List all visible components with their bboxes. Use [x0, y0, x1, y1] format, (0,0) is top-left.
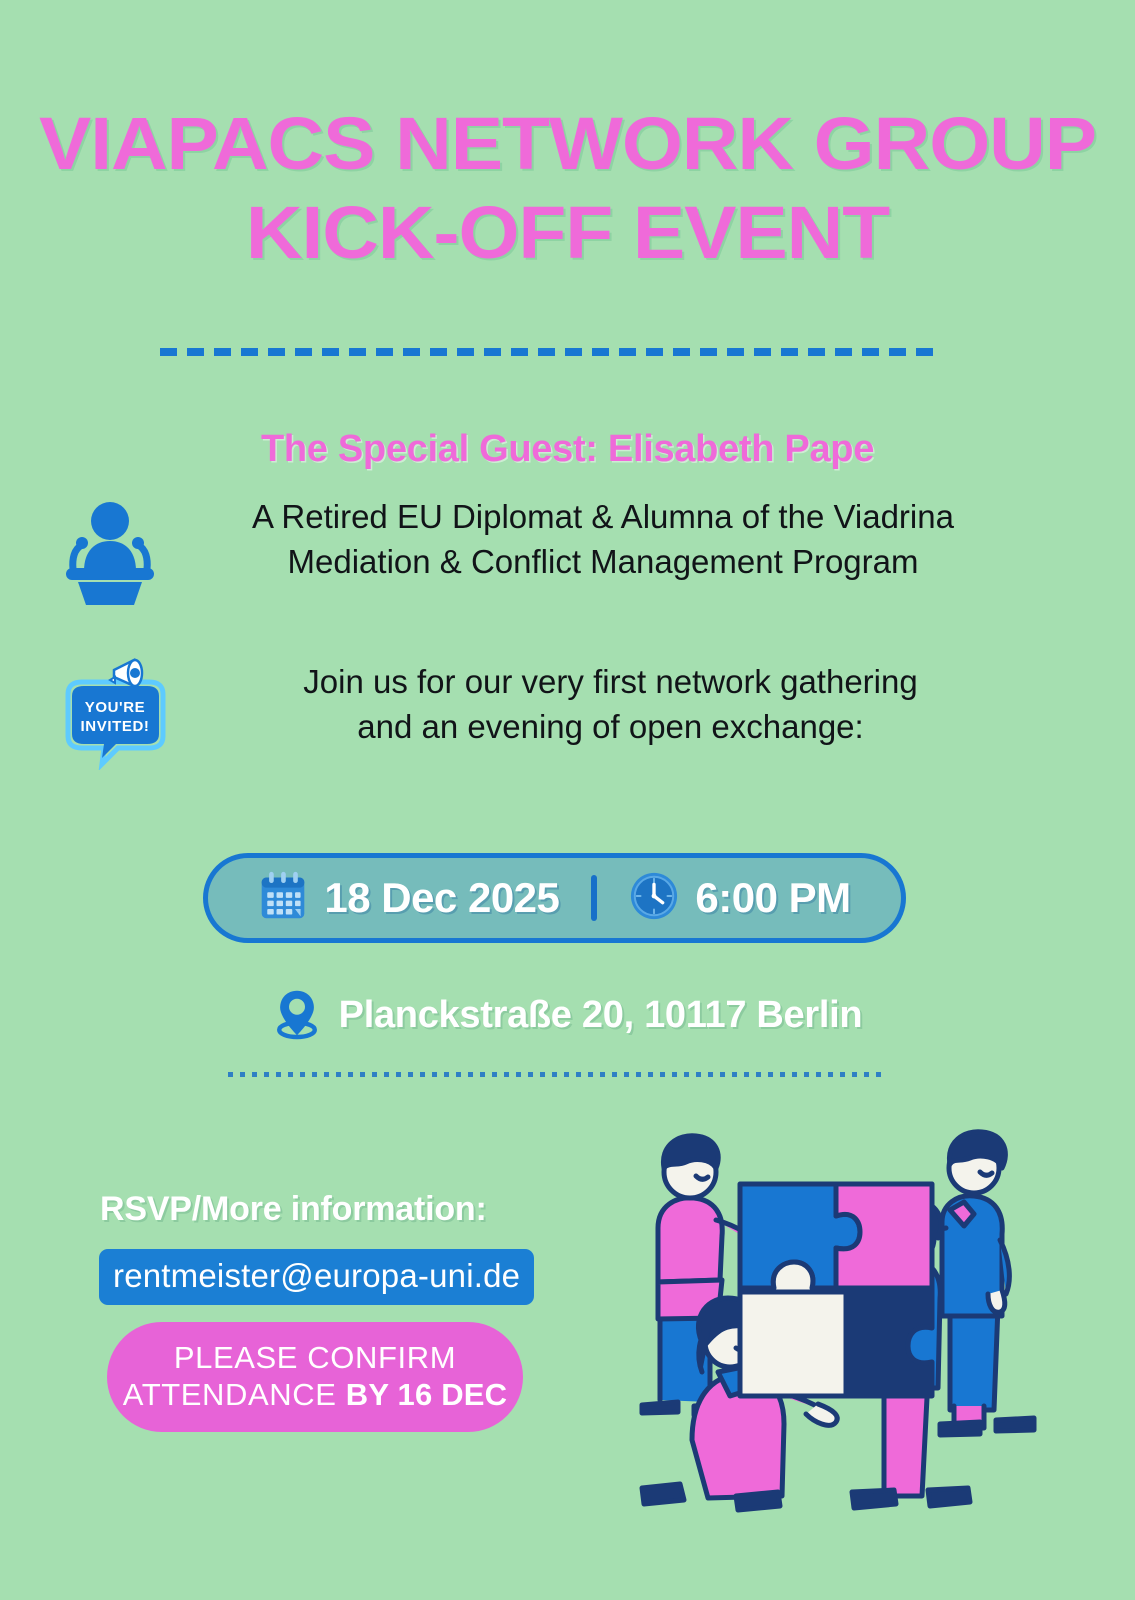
invite-description: Join us for our very first network gathe… [173, 650, 1068, 750]
datetime-separator [591, 875, 597, 921]
rsvp-email[interactable]: rentmeister@europa-uni.de [99, 1249, 534, 1305]
puzzle-pieces [740, 1184, 932, 1396]
calendar-icon [258, 870, 308, 927]
title-line-2: KICK-OFF EVENT [0, 197, 1135, 270]
cta-deadline: BY 16 DEC [346, 1377, 507, 1412]
event-date: 18 Dec 2025 [324, 874, 559, 922]
podium-speaker-icon [60, 497, 160, 607]
title-line-1: VIAPACS NETWORK GROUP [0, 108, 1135, 181]
location-row: Planckstraße 20, 10117 Berlin [0, 985, 1135, 1046]
teamwork-puzzle-illustration [598, 1110, 1046, 1520]
speaker-description: A Retired EU Diplomat & Alumna of the Vi… [160, 495, 1070, 585]
map-pin-icon [273, 985, 321, 1046]
invite-row: YOU'RE INVITED! Join us for our very fir… [58, 650, 1068, 770]
datetime-pill: 18 Dec 2025 6:00 P [203, 853, 906, 943]
page-title: VIAPACS NETWORK GROUP KICK-OFF EVENT [0, 108, 1135, 269]
megaphone-icon [110, 660, 142, 686]
speaker-description-line-1: A Retired EU Diplomat & Alumna of the Vi… [160, 495, 1046, 540]
event-poster: VIAPACS NETWORK GROUP KICK-OFF EVENT The… [0, 0, 1135, 1600]
event-time: 6:00 PM [695, 874, 850, 922]
speaker-description-line-2: Mediation & Conflict Management Program [160, 540, 1046, 585]
cta-line-2-light: ATTENDANCE [123, 1377, 346, 1412]
time-item: 6:00 PM [629, 871, 850, 926]
dashed-divider [160, 348, 940, 356]
confirm-attendance-button[interactable]: PLEASE CONFIRM ATTENDANCE BY 16 DEC [107, 1322, 523, 1432]
youre-invited-badge: YOU'RE INVITED! [58, 650, 173, 770]
cta-line-2: ATTENDANCE BY 16 DEC [123, 1377, 508, 1414]
svg-text:YOU'RE: YOU'RE [85, 699, 146, 716]
cta-line-1: PLEASE CONFIRM [174, 1340, 456, 1377]
rsvp-label: RSVP/More information: [100, 1190, 487, 1229]
special-guest-subtitle: The Special Guest: Elisabeth Pape [0, 428, 1135, 471]
svg-text:INVITED!: INVITED! [81, 718, 150, 735]
invite-description-line-1: Join us for our very first network gathe… [173, 660, 1048, 705]
invite-description-line-2: and an evening of open exchange: [173, 705, 1048, 750]
speaker-row: A Retired EU Diplomat & Alumna of the Vi… [60, 495, 1070, 607]
date-item: 18 Dec 2025 [258, 870, 559, 927]
dotted-divider [228, 1072, 888, 1077]
event-address: Planckstraße 20, 10117 Berlin [339, 994, 863, 1037]
clock-icon [629, 871, 679, 926]
